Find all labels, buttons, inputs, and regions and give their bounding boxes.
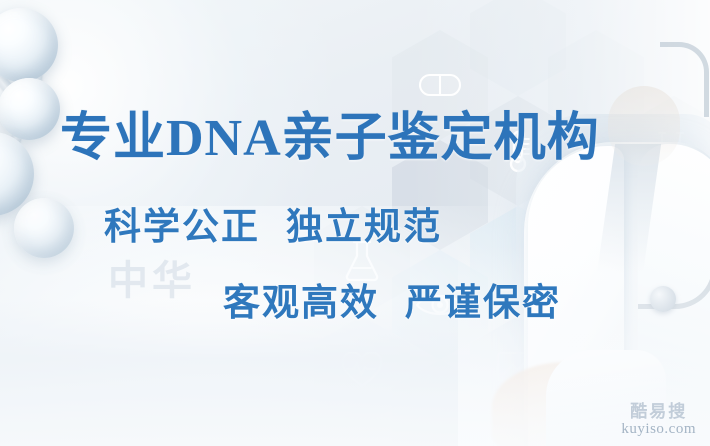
page-title: 专业DNA亲子鉴定机构 — [60, 95, 600, 170]
doctor-in-lab-coat — [488, 0, 710, 446]
molecule-atom — [0, 78, 60, 140]
subheading-2-right: 严谨保密 — [405, 282, 561, 323]
molecule-atom — [0, 8, 58, 82]
molecule-atom — [14, 198, 74, 258]
subheading-1-left: 科学公正 — [104, 206, 260, 247]
subheading-1-right: 独立规范 — [286, 206, 442, 247]
subheading-line-1: 科学公正独立规范 — [104, 196, 442, 250]
promotional-banner: 中华 专业DNA亲子鉴定机构 科学公正独立规范 客观高效严谨保密 酷易搜 kuy… — [0, 0, 710, 446]
stethoscope-tube-upper — [660, 42, 709, 117]
subheading-line-2: 客观高效严谨保密 — [223, 272, 561, 326]
subheading-2-left: 客观高效 — [223, 282, 379, 323]
